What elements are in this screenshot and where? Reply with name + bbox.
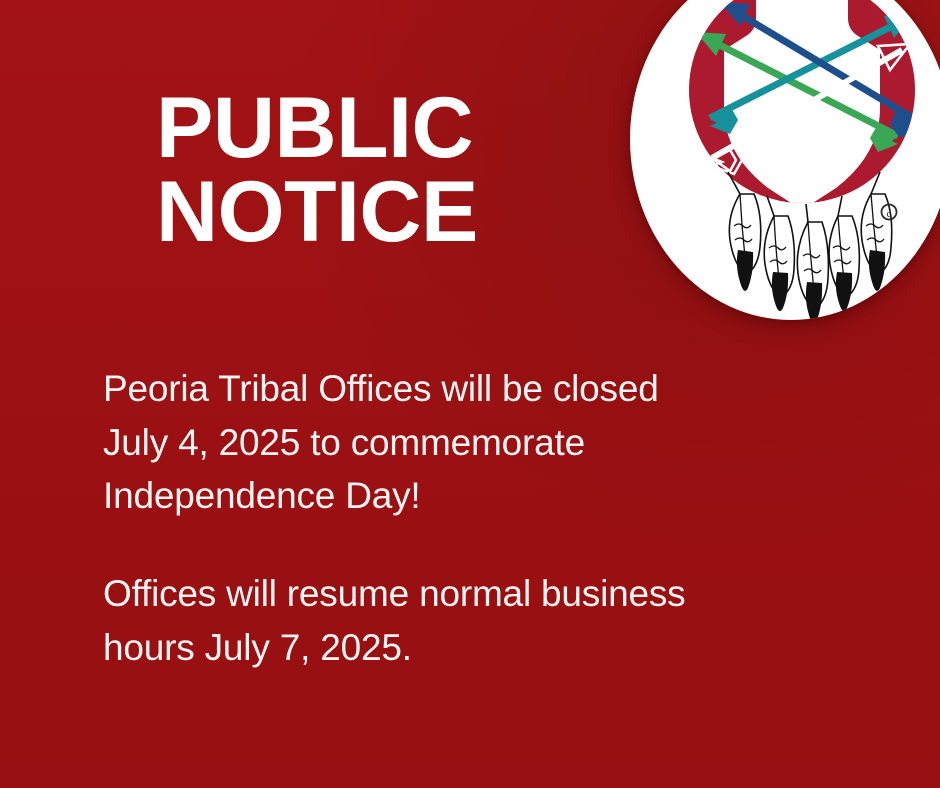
- notice-body: Peoria Tribal Offices will be closed Jul…: [103, 362, 893, 674]
- logo-artwork: c: [630, 0, 940, 320]
- feather-3: [797, 204, 828, 320]
- notice-paragraph-closure: Peoria Tribal Offices will be closed Jul…: [103, 362, 893, 523]
- notice-paragraph-reopen: Offices will resume normal business hour…: [103, 567, 893, 674]
- feather-2: [764, 196, 794, 311]
- tribal-seal-logo: c: [630, 0, 940, 320]
- page-title: Public Notice: [156, 86, 626, 255]
- feather-4: [829, 196, 859, 311]
- feather-5: [861, 172, 892, 291]
- svg-text:c: c: [887, 208, 892, 220]
- public-notice-poster: c Public Notice Peoria Tribal Offices wi…: [0, 0, 940, 788]
